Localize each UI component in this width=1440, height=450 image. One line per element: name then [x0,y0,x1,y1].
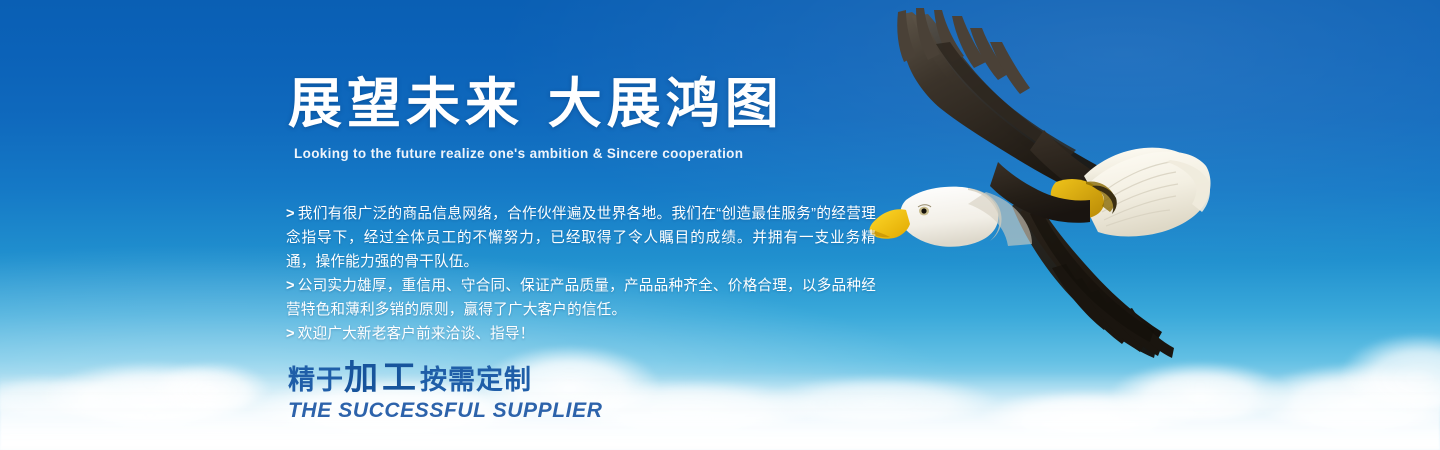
eagle-upper-coverts [936,42,1076,160]
cloud-puff [1340,334,1440,408]
cloud-puff [0,376,130,416]
slogan-emphasis: 加工 [344,358,420,398]
eagle-head [900,187,998,247]
banner-bullet-list: >我们有很广泛的商品信息网络，合作伙伴遍及世界各地。我们在“创造最佳服务”的经营… [286,202,876,346]
eagle-image [840,0,1260,400]
bullet-text: 欢迎广大新老客户前来洽谈、指导！ [298,326,535,342]
eagle-talons [1051,179,1117,219]
cloud-puff [980,390,1200,434]
eagle-eye [919,207,929,216]
eagle-upper-primaries [897,8,1030,94]
eagle-lower-primaries [1052,264,1174,358]
slogan-english: THE SUCCESSFUL SUPPLIER [288,399,602,423]
bullet-marker: > [286,278,295,294]
eagle-lower-wing-mass [1012,196,1158,358]
bullet-item: >我们有很广泛的商品信息网络，合作伙伴遍及世界各地。我们在“创造最佳服务”的经营… [286,202,876,274]
bullet-item: >公司实力雄厚，重信用、守合同、保证产品质量，产品品种齐全、价格合理，以多品种经… [286,274,876,322]
banner-slogan: 精于加工按需定制 THE SUCCESSFUL SUPPLIER [288,360,602,423]
eagle-lower-wing [1020,202,1162,350]
slogan-prefix: 精于 [288,365,344,396]
eagle-upper-wing-mass [912,14,1102,186]
slogan-suffix: 按需定制 [420,365,532,396]
banner-headline: 展望未来 大展鸿图 [288,76,784,130]
bullet-marker: > [286,206,295,222]
eagle-body [1076,170,1174,221]
slogan-chinese: 精于加工按需定制 [288,360,602,397]
eagle-head-shade [968,188,1002,241]
eagle-lower-wing-shadow [1030,208,1154,342]
eagle-upper-wing [902,12,1098,196]
bullet-text: 我们有很广泛的商品信息网络，合作伙伴遍及世界各地。我们在“创造最佳服务”的经营理… [286,206,876,270]
bullet-marker: > [286,326,295,342]
cloud-puff [40,362,260,424]
cloud-puff [1250,364,1440,430]
promotional-banner: 展望未来 大展鸿图 Looking to the future realize … [0,0,1440,450]
eagle-neck [968,192,1032,246]
cloud-puff [1110,362,1290,420]
eagle-tail [1084,148,1211,237]
bullet-text: 公司实力雄厚，重信用、守合同、保证产品质量，产品品种齐全、价格合理，以多品种经营… [286,278,876,318]
eagle-torso [1030,130,1188,220]
banner-subheadline: Looking to the future realize one's ambi… [294,146,743,161]
banner-content: 展望未来 大展鸿图 Looking to the future realize … [286,0,886,450]
eagle-pupil [921,208,926,213]
cloud-puff [150,362,270,410]
bullet-item: >欢迎广大新老客户前来洽谈、指导！ [286,322,876,346]
eagle-shoulder [990,162,1090,223]
